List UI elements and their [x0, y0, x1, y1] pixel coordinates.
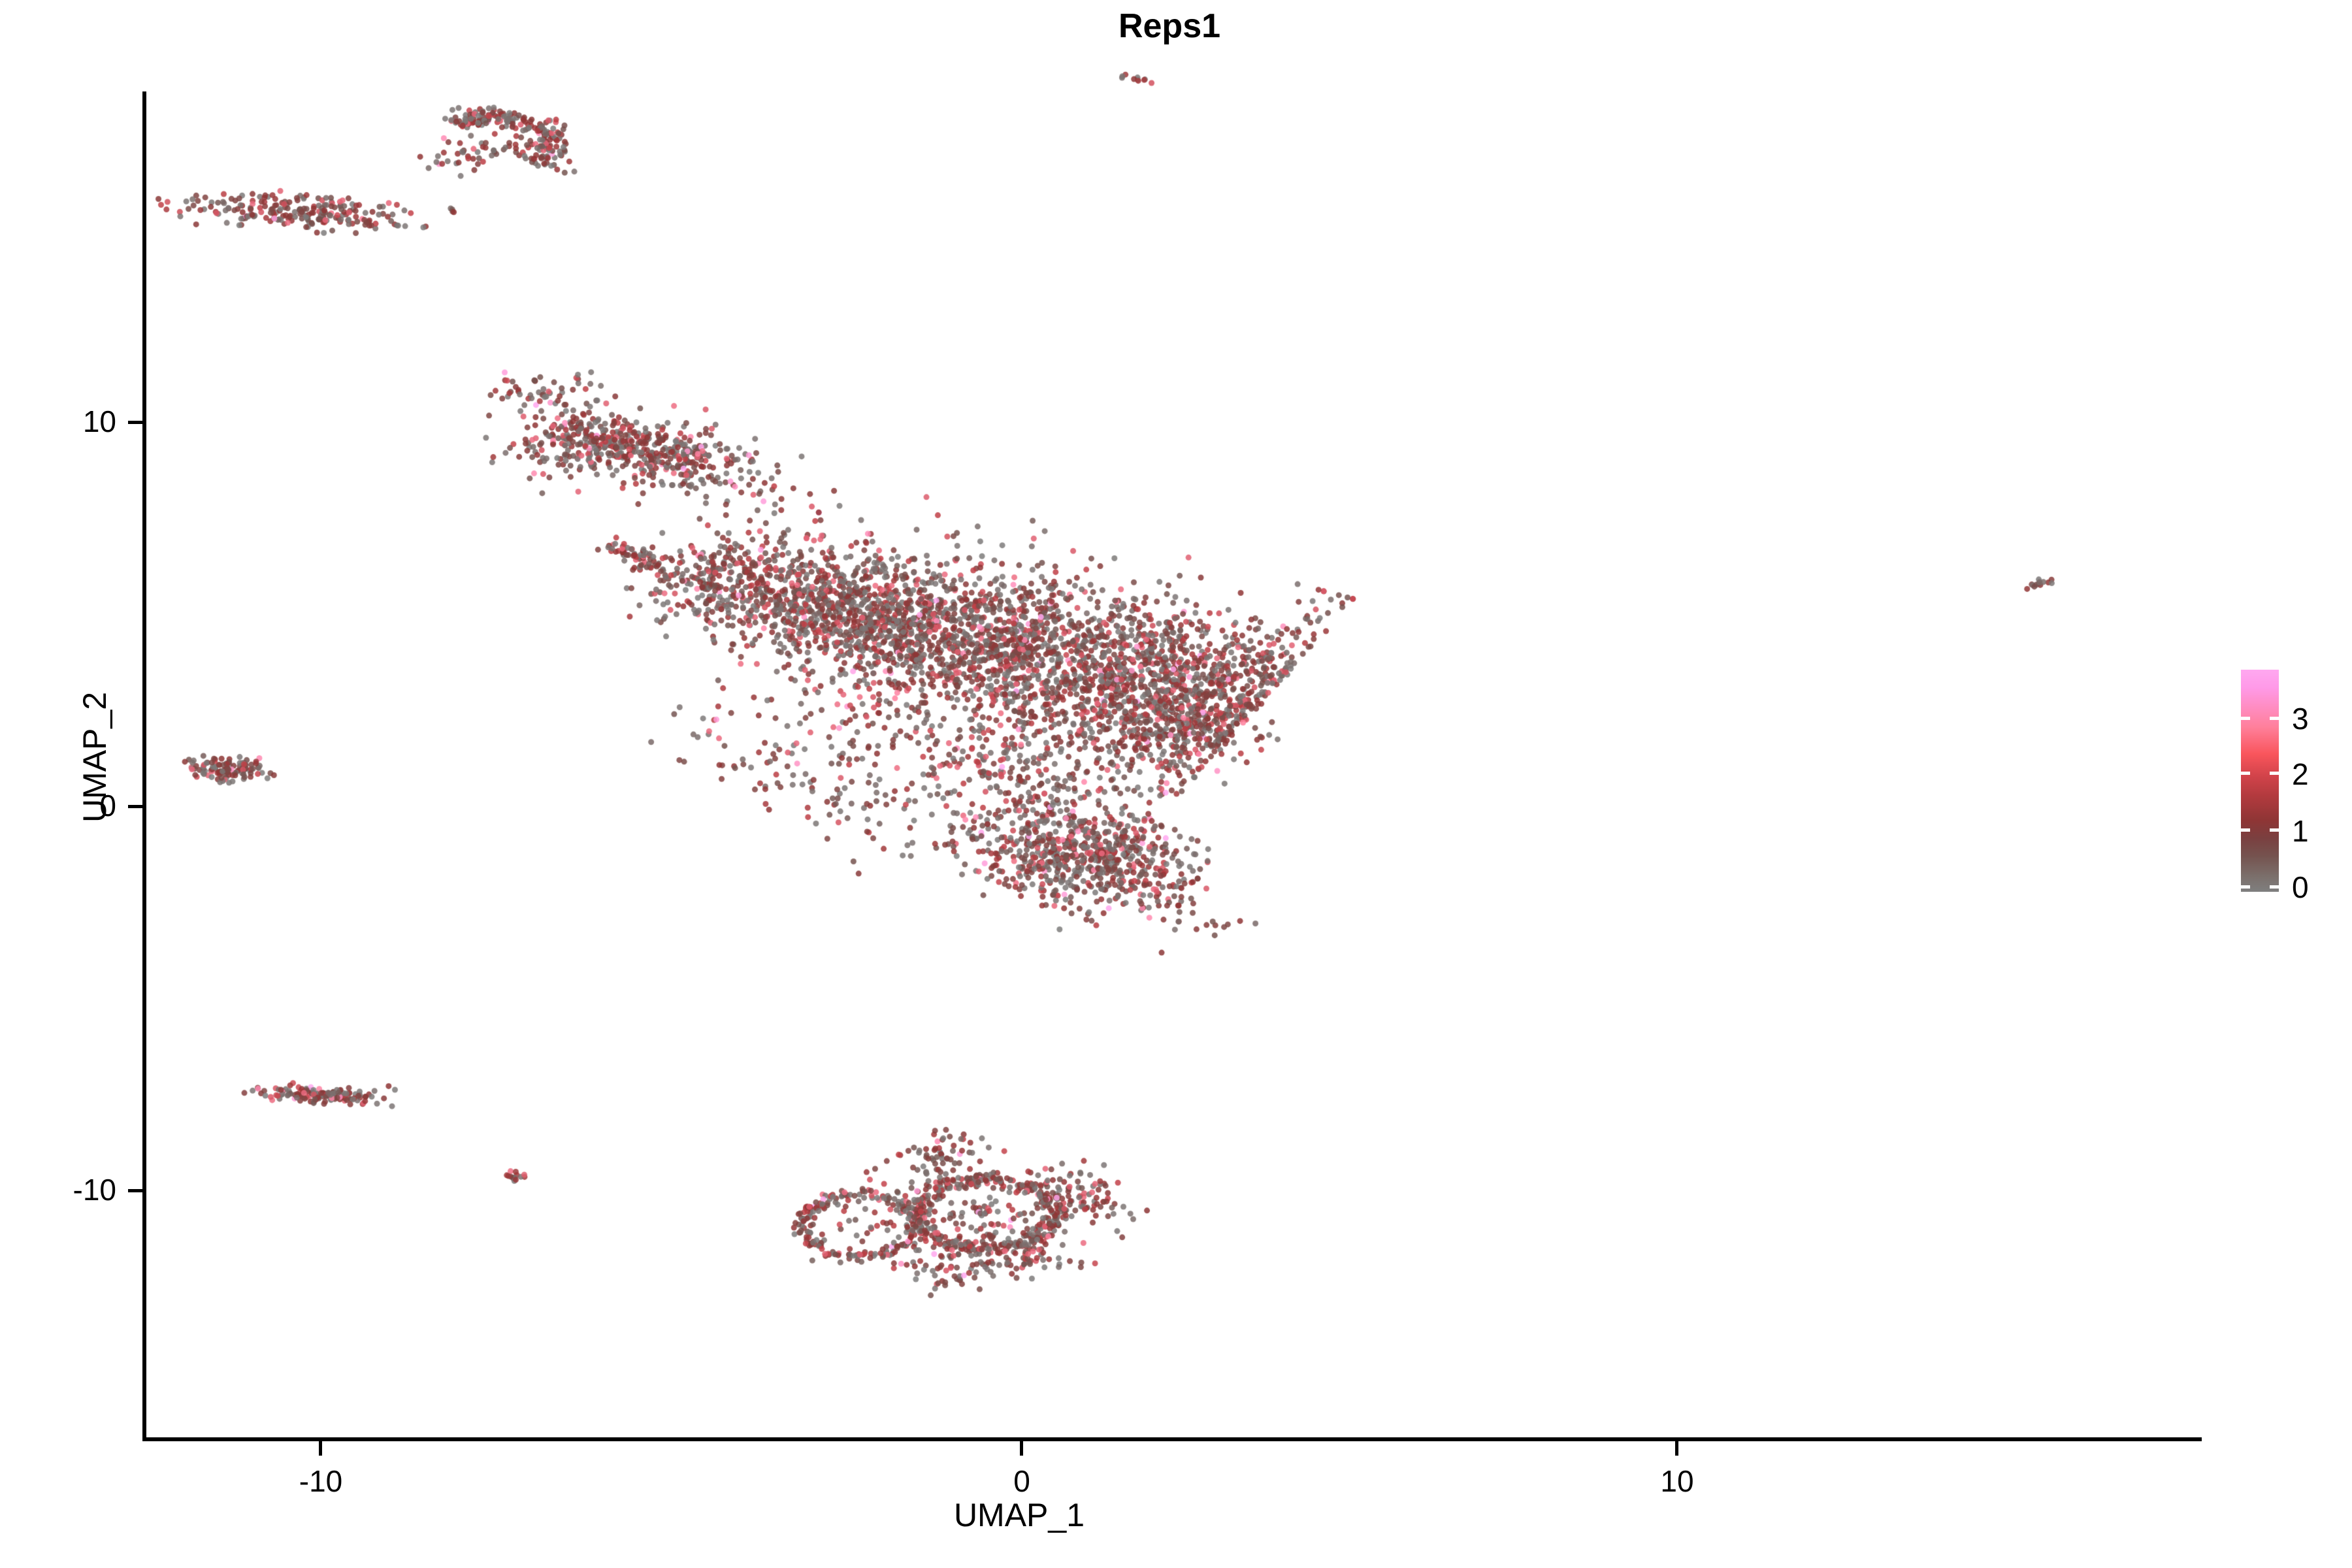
x-axis-line [142, 1437, 2202, 1441]
x-tick-mark-neg10 [319, 1441, 322, 1456]
colorbar-legend: 3 2 1 0 [2241, 670, 2332, 892]
colorbar-tick-0-right [2270, 885, 2279, 889]
colorbar-gradient [2241, 670, 2279, 892]
x-tick-mark-0 [1020, 1441, 1023, 1456]
colorbar-label-2: 2 [2292, 757, 2351, 792]
x-axis-title: UMAP_1 [784, 1496, 1254, 1534]
x-tick-label-0: 0 [943, 1463, 1100, 1499]
colorbar-tick-1-right [2270, 828, 2279, 832]
umap-scatter-plot: Reps1 10 0 -10 -10 0 10 UMAP_1 UMAP_2 3 … [0, 0, 2352, 1568]
x-tick-label-10: 10 [1599, 1463, 1756, 1499]
scatter-points-canvas [0, 0, 2058, 1348]
x-tick-label-neg10: -10 [242, 1463, 399, 1499]
colorbar-tick-3-left [2241, 717, 2250, 720]
colorbar-tick-3-right [2270, 717, 2279, 720]
colorbar-tick-1-left [2241, 828, 2250, 832]
colorbar-tick-0-left [2241, 885, 2250, 889]
colorbar-tick-2-right [2270, 772, 2279, 775]
colorbar-label-0: 0 [2292, 870, 2351, 905]
x-tick-mark-10 [1675, 1441, 1678, 1456]
colorbar-tick-2-left [2241, 772, 2250, 775]
colorbar-label-3: 3 [2292, 701, 2351, 736]
colorbar-label-1: 1 [2292, 813, 2351, 849]
